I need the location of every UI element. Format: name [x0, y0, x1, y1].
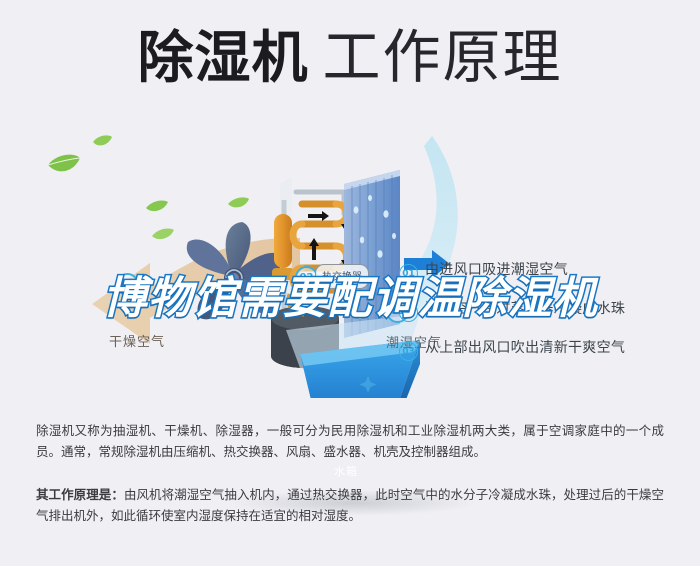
paragraph-two-label: 其工作原理是： — [36, 487, 124, 502]
diagram-badge-03: 03 — [116, 273, 139, 296]
legend-list: 01 由进风口吸进潮湿空气 02 潮湿空气经过蒸发器冷凝成水珠 03 从上部出风… — [399, 262, 689, 379]
legend-text: 由进风口吸进潮湿空气 — [425, 262, 568, 280]
page-title: 除湿机工作原理 — [0, 28, 700, 87]
description-copy: 除湿机又称为抽湿机、干燥机、除湿器，一般可分为民用除湿机和工业除湿机两大类，属于… — [36, 420, 664, 534]
infographic-page: 除湿机工作原理 — [0, 0, 700, 566]
list-item: 03 从上部出风口吹出清新干爽空气 — [399, 340, 689, 361]
title-primary: 除湿机 — [137, 26, 308, 91]
heat-exchanger-label: 热交换器 — [322, 272, 362, 283]
dry-air-label: 干燥空气 — [109, 331, 165, 350]
leaf-decorations — [48, 135, 249, 239]
legend-text: 从上部出风口吹出清新干爽空气 — [425, 340, 625, 358]
paragraph-two: 其工作原理是：由风机将潮湿空气抽入机内，通过热交换器，此时空气中的水分子冷凝成水… — [36, 484, 664, 526]
legend-text: 潮湿空气经过蒸发器冷凝成水珠 — [425, 301, 625, 319]
title-secondary: 工作原理 — [322, 23, 562, 91]
paragraph-one: 除湿机又称为抽湿机、干燥机、除湿器，一般可分为民用除湿机和工业除湿机两大类，属于… — [36, 420, 664, 462]
legend-number: 02 — [399, 303, 418, 322]
paragraph-two-body: 由风机将潮湿空气抽入机内，通过热交换器，此时空气中的水分子冷凝成水珠，处理过后的… — [36, 487, 664, 523]
callout-tail-icon — [333, 288, 343, 294]
heat-exchanger-callout: 热交换器 — [315, 264, 369, 289]
legend-number: 03 — [399, 342, 418, 361]
refrigerant-coils — [272, 192, 351, 318]
legend-number: 01 — [399, 264, 418, 283]
list-item: 02 潮湿空气经过蒸发器冷凝成水珠 — [399, 301, 689, 322]
list-item: 01 由进风口吸进潮湿空气 — [399, 262, 689, 283]
